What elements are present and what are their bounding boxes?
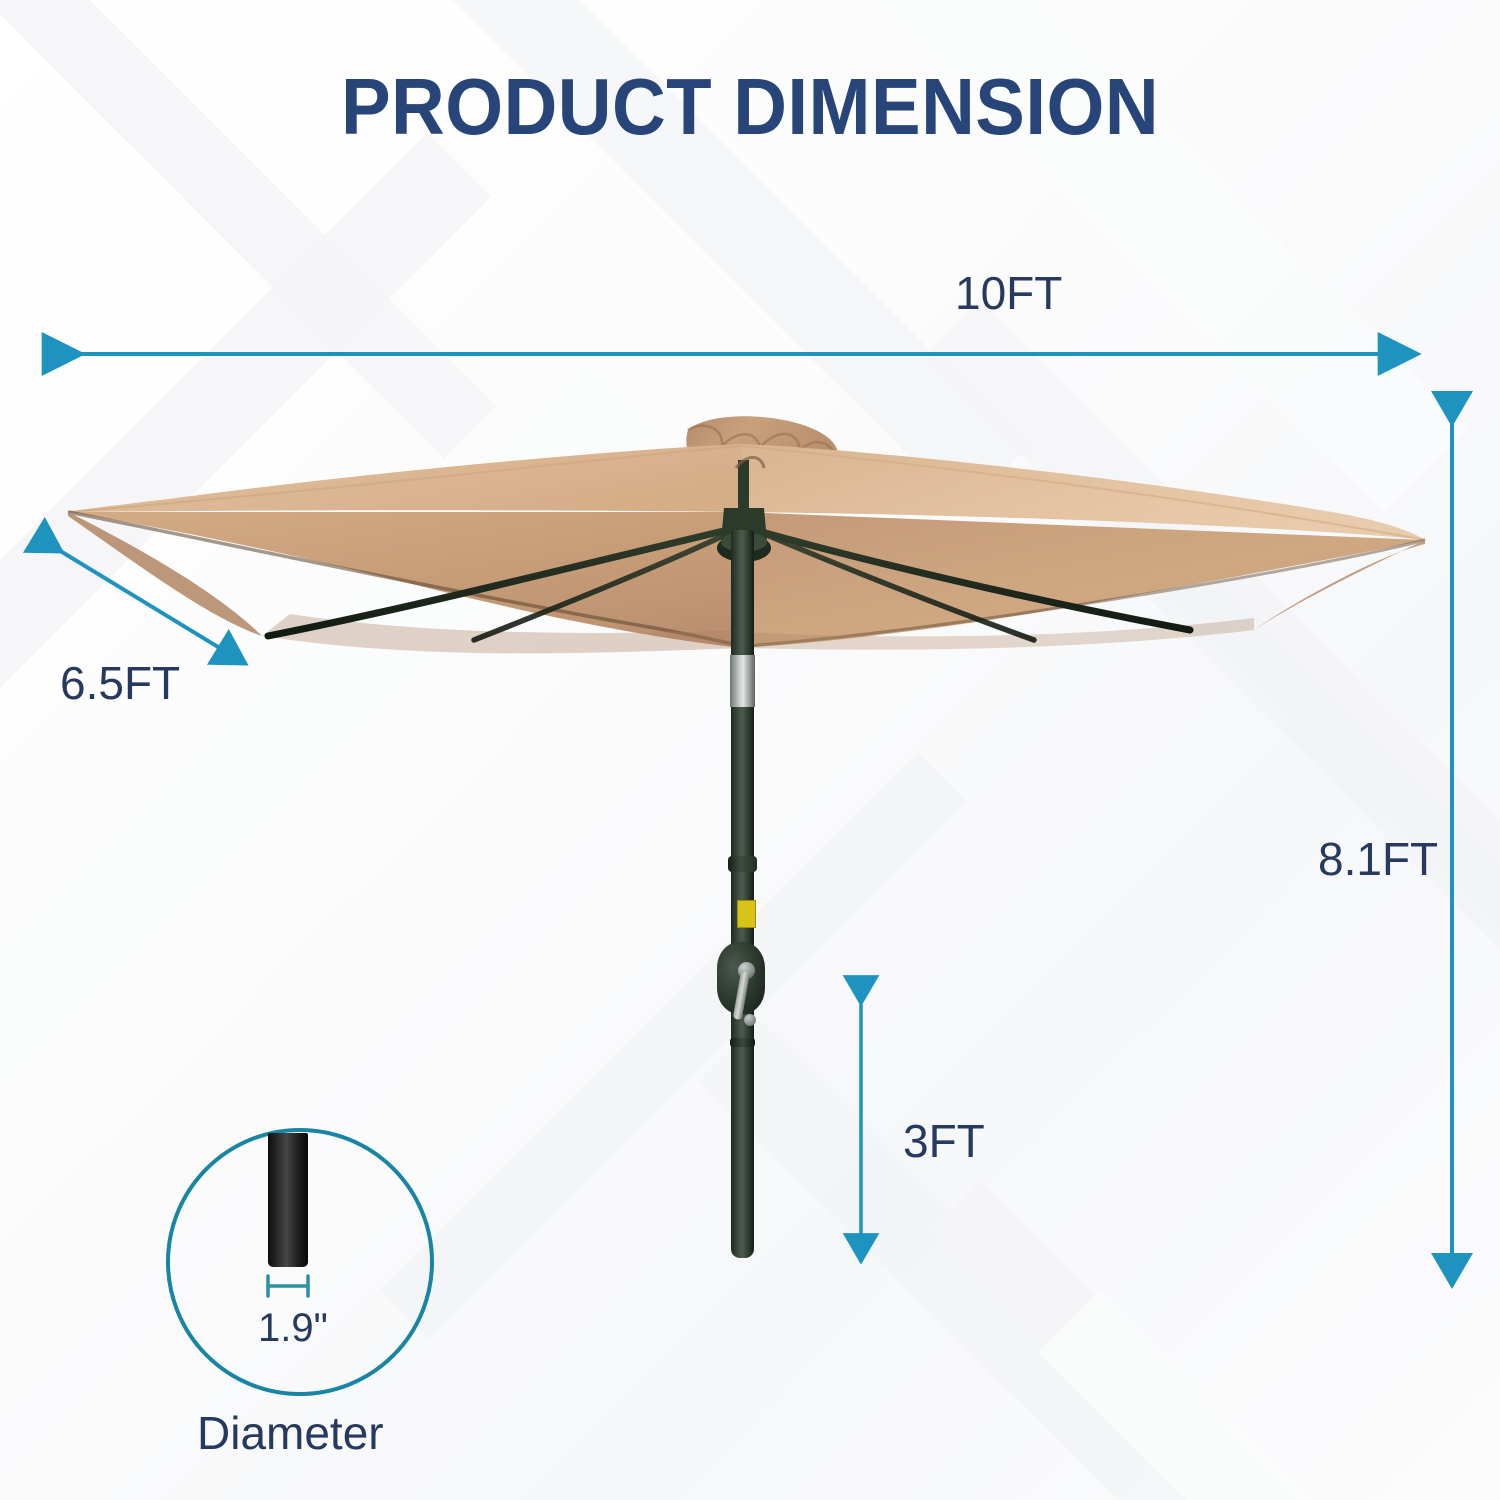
depth-dimension-arrow	[62, 552, 246, 664]
label-depth: 6.5FT	[60, 658, 180, 708]
product-dimension-diagram: PRODUCT DIMENSION	[0, 0, 1500, 1500]
label-width: 10FT	[955, 268, 1062, 318]
label-height: 8.1FT	[1318, 834, 1438, 884]
label-clearance: 3FT	[903, 1116, 985, 1166]
diameter-callout-pole	[268, 1133, 308, 1267]
label-pole-diameter-value: 1.9"	[258, 1303, 328, 1353]
label-pole-diameter-caption: Diameter	[197, 1408, 384, 1458]
